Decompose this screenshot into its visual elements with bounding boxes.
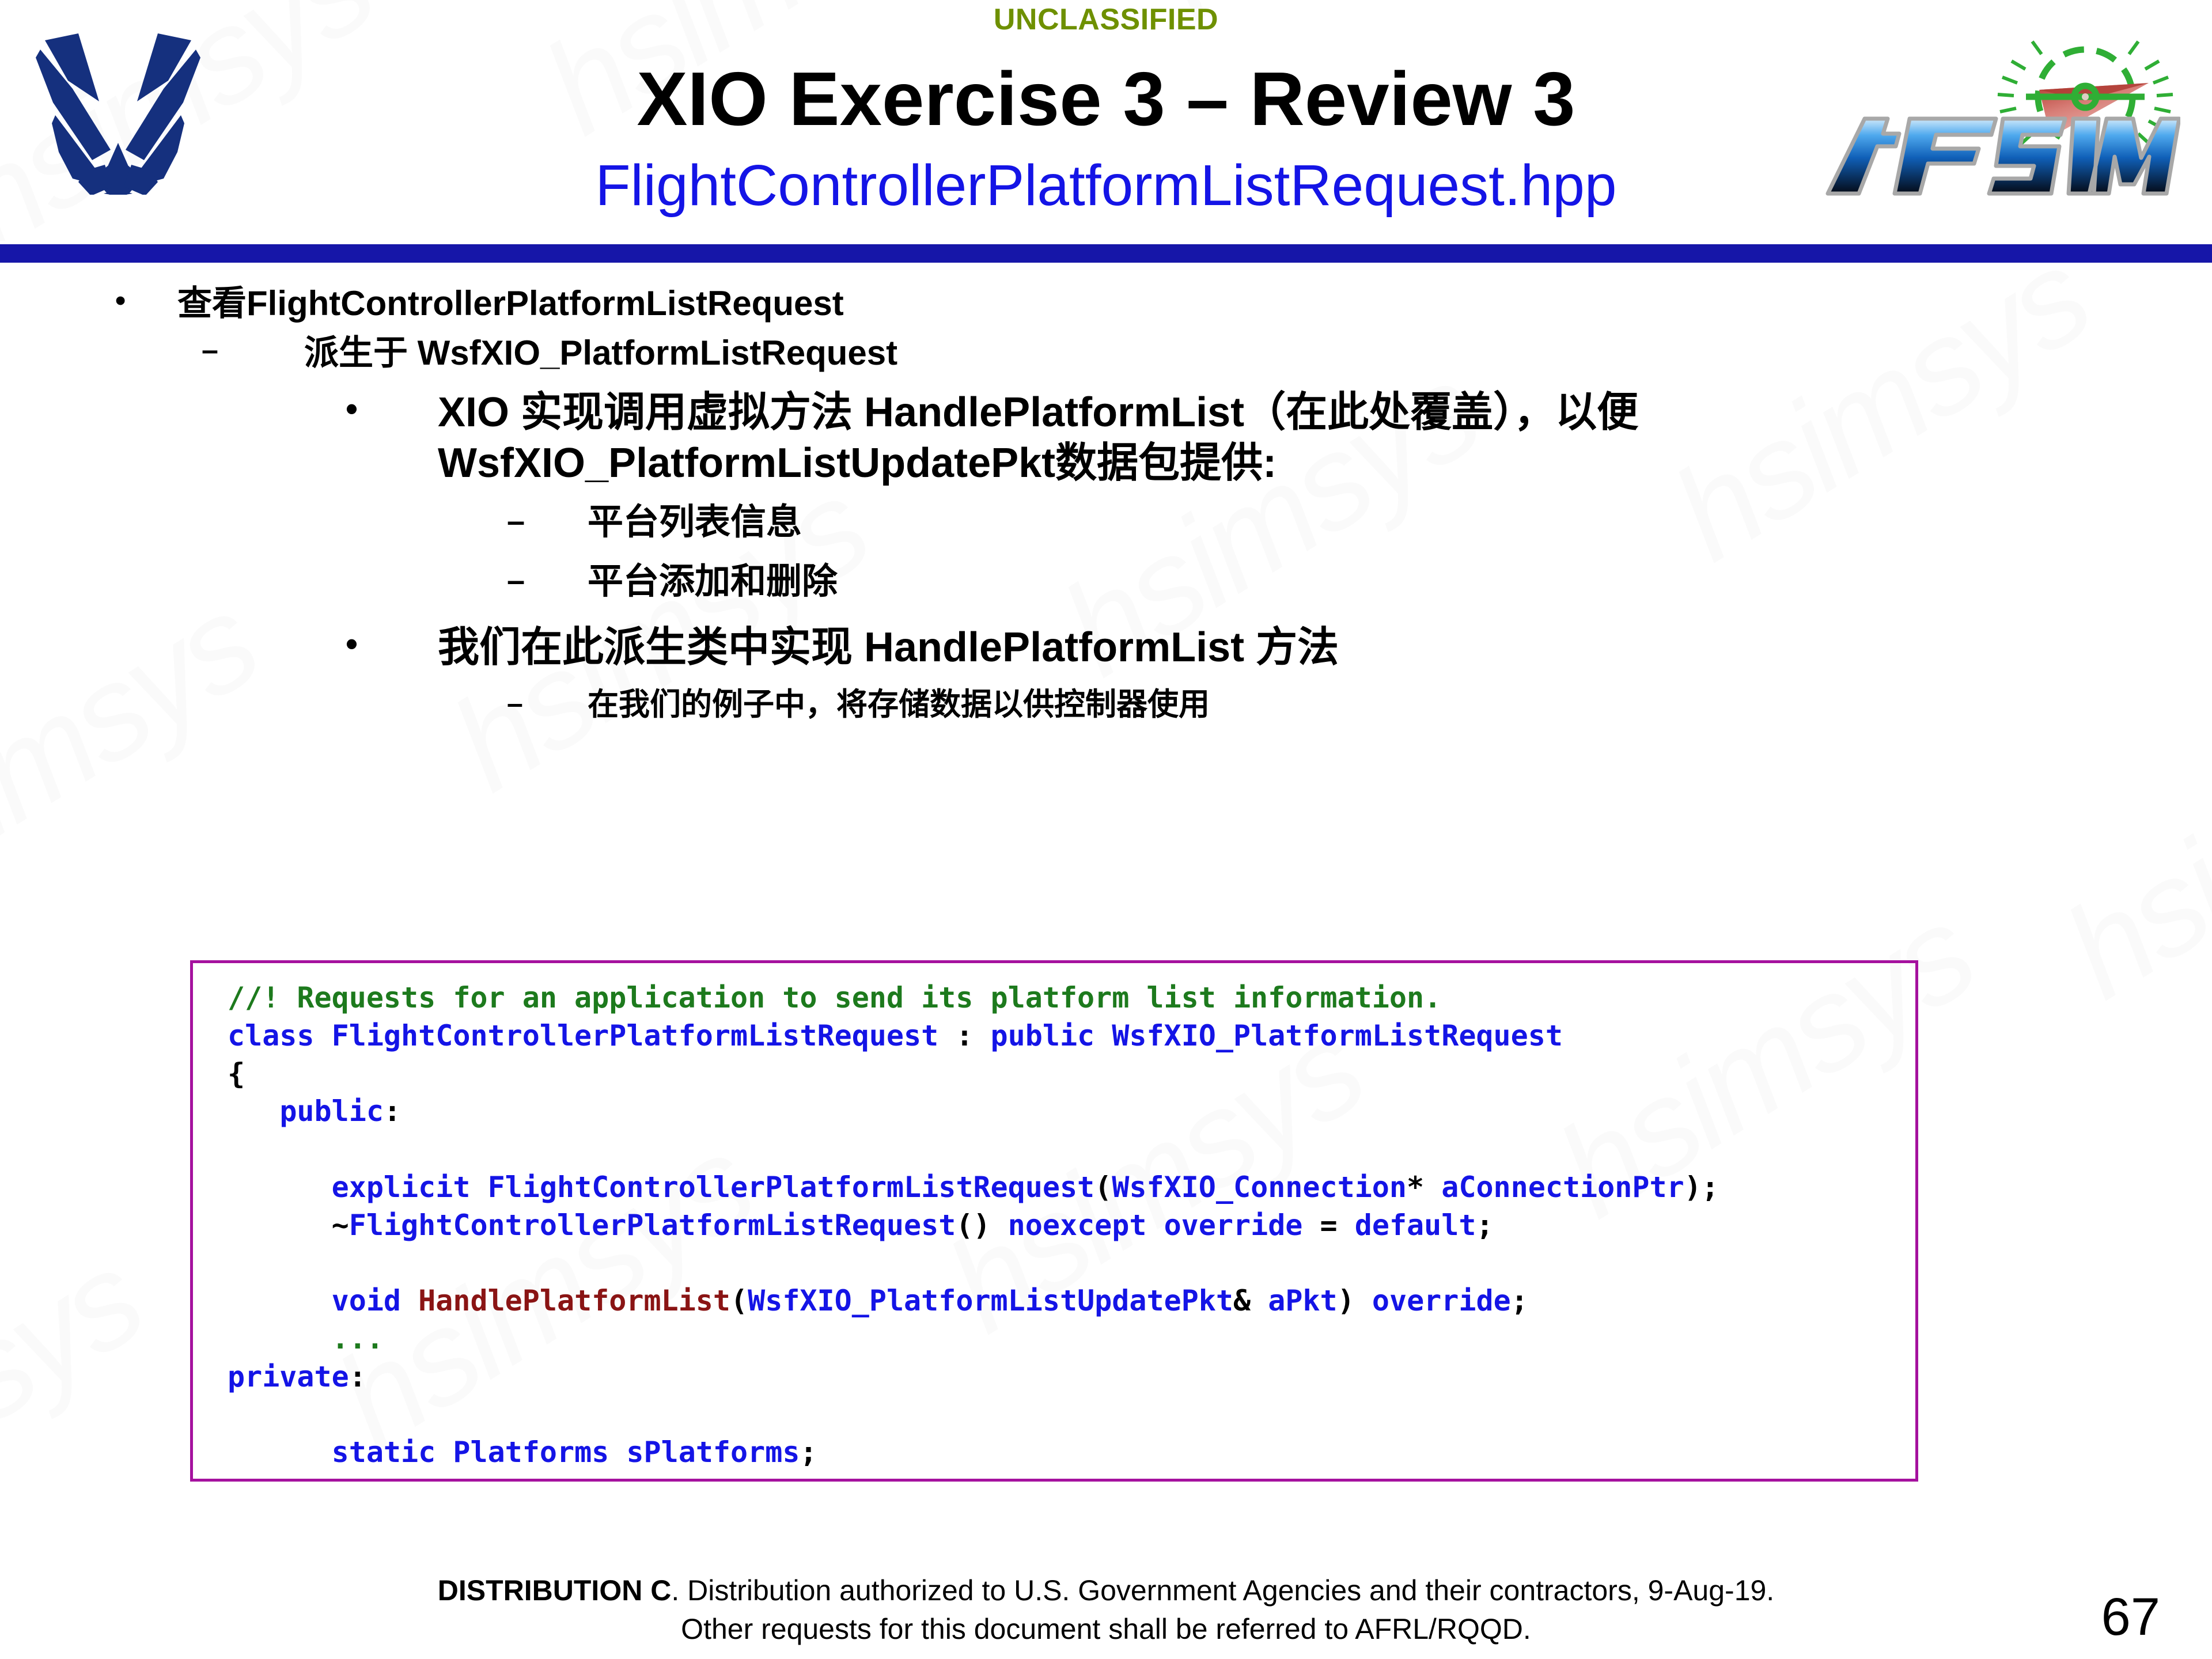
bullet-level1: • 查看FlightControllerPlatformListRequest — [115, 283, 2212, 324]
slide-root: hsimsys hsimsys hsimsys hsimsys hsimsys … — [0, 0, 2212, 1659]
bullet-marker: • — [346, 623, 438, 665]
code-comment: //! Requests for an application to send … — [228, 981, 1441, 1014]
code-param: aConnectionPtr — [1441, 1171, 1684, 1204]
bullet-level3: • XIO 实现调用虚拟方法 HandlePlatformList（在此处覆盖）… — [346, 388, 2212, 489]
code-punct: ); — [1684, 1171, 1719, 1204]
code-ellipsis: ... — [332, 1322, 384, 1355]
code-block: //! Requests for an application to send … — [190, 960, 1918, 1482]
code-punct: ) — [1338, 1284, 1355, 1317]
distribution-text: . Distribution authorized to U.S. Govern… — [671, 1574, 1774, 1607]
distribution-line-1: DISTRIBUTION C. Distribution authorized … — [0, 1571, 2212, 1610]
code-punct: () — [956, 1209, 990, 1242]
bullet-marker: – — [507, 560, 588, 599]
bullet-level4: – 平台列表信息 — [507, 501, 2212, 544]
code-type: FlightControllerPlatformListRequest — [349, 1209, 956, 1242]
code-type: WsfXIO_Connection — [1112, 1171, 1407, 1204]
code-keyword: public — [279, 1094, 384, 1128]
bullet-marker: – — [202, 332, 304, 368]
us-air-force-logo-icon — [23, 28, 213, 195]
bullet-text: XIO 实现调用虚拟方法 HandlePlatformList（在此处覆盖），以… — [438, 388, 1820, 489]
code-punct: { — [228, 1057, 245, 1090]
code-punct: * — [1407, 1171, 1424, 1204]
code-punct: ; — [1476, 1209, 1493, 1242]
code-keyword: noexcept override — [1008, 1209, 1303, 1242]
code-punct: ( — [730, 1284, 748, 1317]
bullet-marker: • — [115, 283, 177, 319]
bullet-marker: • — [346, 388, 438, 430]
bullet-text: 平台列表信息 — [588, 501, 802, 544]
code-param: aPkt — [1268, 1284, 1337, 1317]
code-function: HandlePlatformList — [418, 1284, 730, 1317]
code-punct: ; — [800, 1435, 817, 1469]
code-keyword: static — [332, 1435, 436, 1469]
page-subtitle: FlightControllerPlatformListRequest.hpp — [323, 156, 1889, 216]
bullet-text: 在我们的例子中，将存储数据以供控制器使用 — [588, 686, 1210, 724]
code-punct: : — [349, 1360, 366, 1393]
code-keyword: explicit — [332, 1171, 471, 1204]
code-keyword: private — [228, 1360, 349, 1393]
bullet-text: 派生于 WsfXIO_PlatformListRequest — [304, 332, 897, 374]
code-content: //! Requests for an application to send … — [228, 979, 1719, 1472]
code-punct: : — [384, 1094, 401, 1128]
code-keyword: class — [228, 1019, 315, 1052]
code-type: Platforms — [453, 1435, 609, 1469]
page-number: 67 — [2101, 1587, 2160, 1647]
code-punct: ; — [1511, 1284, 1528, 1317]
bullet-marker: – — [507, 501, 588, 540]
header-divider-bar — [0, 244, 2212, 263]
code-type: WsfXIO_PlatformListUpdatePkt — [748, 1284, 1233, 1317]
bullet-marker: – — [507, 686, 588, 721]
code-keyword: public — [991, 1019, 1095, 1052]
distribution-statement: DISTRIBUTION C. Distribution authorized … — [0, 1571, 2212, 1648]
bullet-level3: • 我们在此派生类中实现 HandlePlatformList 方法 — [346, 623, 2212, 673]
code-keyword: default — [1355, 1209, 1476, 1242]
code-param: sPlatforms — [626, 1435, 800, 1469]
bullet-level4: – 平台添加和删除 — [507, 560, 2212, 603]
afsim-logo-icon — [1823, 28, 2180, 200]
distribution-line-2: Other requests for this document shall b… — [0, 1610, 2212, 1649]
code-keyword: void — [332, 1284, 401, 1317]
bullet-level2: – 派生于 WsfXIO_PlatformListRequest — [202, 332, 2212, 374]
bullet-list: • 查看FlightControllerPlatformListRequest … — [0, 283, 2212, 724]
code-punct: ( — [1094, 1171, 1112, 1204]
distribution-label: DISTRIBUTION C — [438, 1574, 672, 1607]
bullet-text: 查看FlightControllerPlatformListRequest — [177, 283, 844, 324]
code-keyword: override — [1372, 1284, 1511, 1317]
code-type: FlightControllerPlatformListRequest — [488, 1171, 1095, 1204]
code-punct: & — [1233, 1284, 1251, 1317]
code-type: WsfXIO_PlatformListRequest — [1112, 1019, 1563, 1052]
bullet-level5: – 在我们的例子中，将存储数据以供控制器使用 — [507, 686, 2212, 724]
watermark-text: hsimsys — [0, 1222, 166, 1593]
code-punct: : — [956, 1019, 973, 1052]
page-title: XIO Exercise 3 – Review 3 — [323, 60, 1889, 138]
code-punct: = — [1320, 1209, 1338, 1242]
code-punct: ~ — [332, 1209, 349, 1242]
bullet-text: 我们在此派生类中实现 HandlePlatformList 方法 — [438, 623, 1339, 673]
bullet-text: 平台添加和删除 — [588, 560, 838, 603]
code-type: FlightControllerPlatformListRequest — [332, 1019, 939, 1052]
